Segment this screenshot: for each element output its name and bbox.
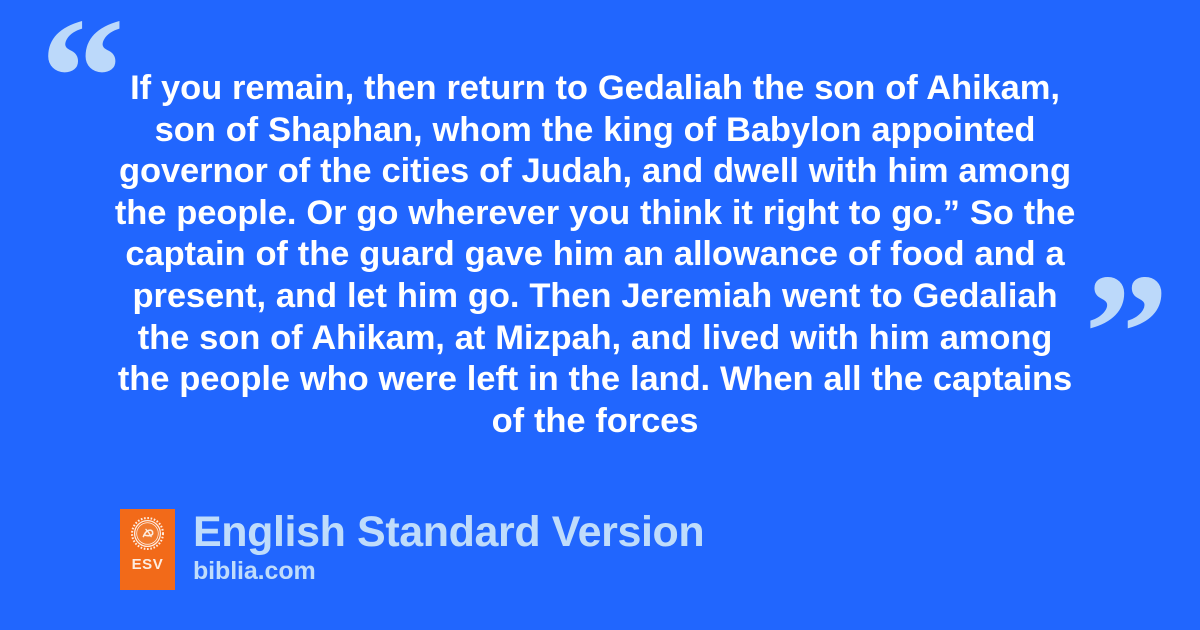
esv-seal-icon (131, 517, 164, 550)
opening-quote-icon: “ (40, 0, 123, 162)
bible-version-title: English Standard Version (193, 509, 704, 556)
verse-text-block: If you remain, then return to Gedaliah t… (112, 68, 1078, 442)
esv-logo-abbreviation: ESV (132, 557, 164, 572)
brand-text-group: English Standard Version biblia.com (193, 509, 704, 585)
esv-logo: ESV (120, 509, 175, 590)
brand-footer[interactable]: ESV English Standard Version biblia.com (120, 509, 704, 590)
website-url[interactable]: biblia.com (193, 557, 704, 585)
closing-quote-icon: ” (1084, 248, 1167, 418)
verse-text: If you remain, then return to Gedaliah t… (112, 68, 1078, 442)
verse-card: “ If you remain, then return to Gedaliah… (0, 0, 1200, 630)
